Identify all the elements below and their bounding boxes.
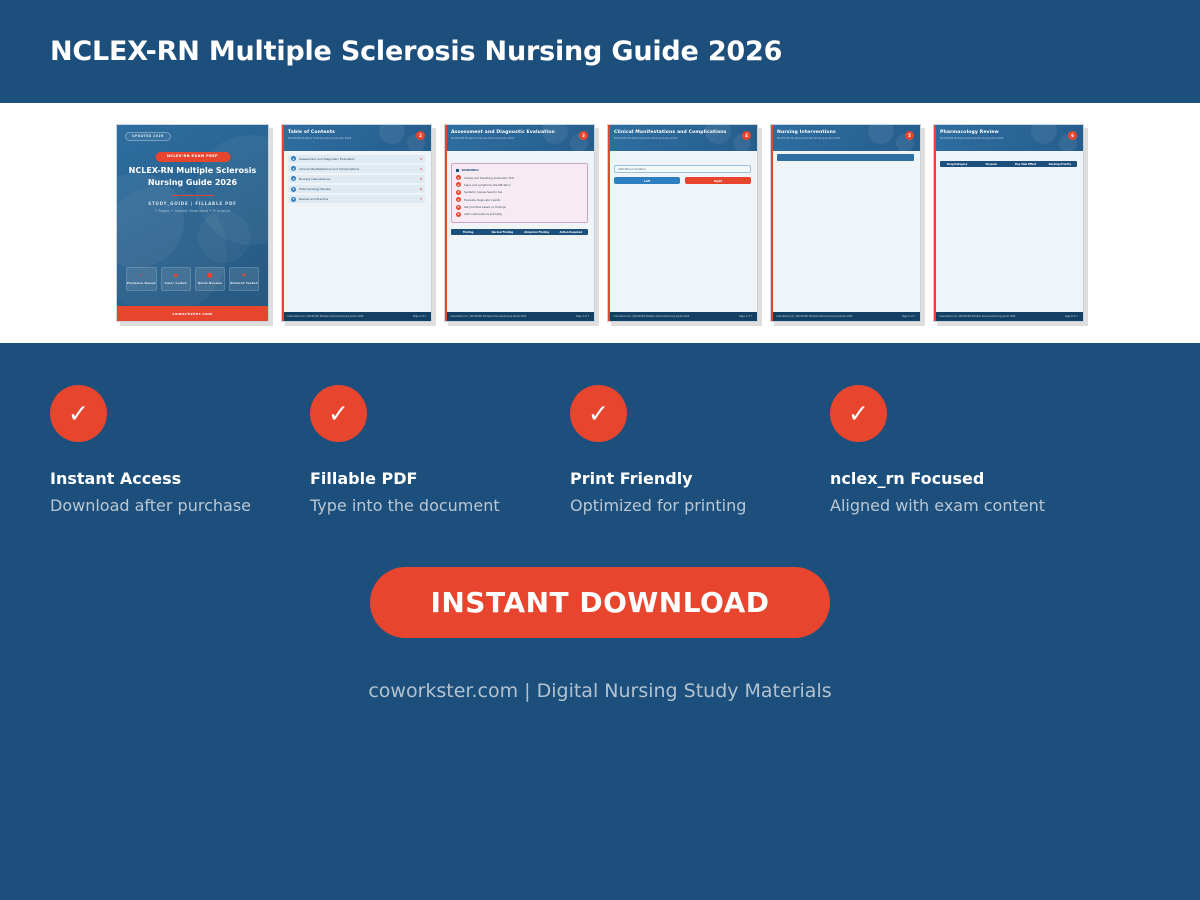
table-header-row: Drug/Category Purpose Key Side Effect Nu…	[940, 161, 1077, 167]
palette-icon: ◆	[173, 273, 178, 279]
thumbnail-page-3[interactable]: Assessment and Diagnostic Evaluation NCL…	[444, 124, 595, 322]
warning-index: 4	[456, 197, 461, 202]
cover-feature-item: ◆ Color Coded	[161, 267, 191, 291]
cover-meta: 7 Pages • Instant Download • Printable	[117, 209, 268, 213]
cover-feature-row: ✓ Evidence Based ◆ Color Coded ■ Quick R…	[126, 267, 259, 291]
cover-feature-label: Color Coded	[165, 281, 187, 285]
cover-feature-label: Quick Review	[198, 281, 222, 285]
check-icon: ✓	[50, 385, 107, 442]
cover-feature-item: ■ Quick Review	[195, 267, 225, 291]
accent-bar	[934, 125, 936, 321]
cover-feature-label: Evidence Based	[127, 281, 156, 285]
warning-item: 6 Alert interventions promptly	[456, 212, 583, 217]
instant-download-button[interactable]: INSTANT DOWNLOAD	[370, 567, 829, 638]
page-subheading: NCLEX-RN Multiple Sclerosis Nursing Guid…	[777, 137, 914, 140]
check-icon: ✓	[310, 385, 367, 442]
table-column-header: Key Side Effect	[1009, 163, 1043, 166]
feature-instant-access: ✓ Instant Access Download after purchase	[50, 385, 310, 515]
page-footer: coworkster.com | NCLEX-RN Multiple Scler…	[445, 312, 594, 321]
toc-index: 3	[291, 176, 296, 181]
page-footer-left: coworkster.com | NCLEX-RN Multiple Scler…	[613, 315, 689, 318]
page-subheading: NCLEX-RN Multiple Sclerosis Nursing Guid…	[288, 137, 425, 140]
page-footer-right: Page 4 of 7	[739, 315, 752, 318]
cover-brand-band: coworkster.com	[117, 306, 268, 321]
page-number-badge: 4	[742, 131, 751, 140]
table-column-header: Abnormal Finding	[520, 231, 554, 234]
button-row: Left Right	[614, 177, 751, 184]
warning-text: Systemic review head to toe	[464, 190, 502, 194]
toc-page-number: 6	[420, 187, 422, 191]
site-footer: coworkster.com | Digital Nursing Study M…	[0, 680, 1200, 702]
page-heading: Clinical Manifestations and Complication…	[614, 130, 751, 135]
warning-text: Evaluate diagnostic results	[464, 198, 500, 202]
page-footer-right: Page 6 of 7	[1065, 315, 1078, 318]
cover-feature-label: Student Tested	[230, 281, 258, 285]
check-icon: ✓	[570, 385, 627, 442]
warning-text: Alert interventions promptly	[464, 212, 502, 216]
warning-item: 5 Set priorities based on findings	[456, 205, 583, 210]
toc-index: 5	[291, 197, 296, 202]
page-subheading: NCLEX-RN Multiple Sclerosis Nursing Guid…	[451, 137, 588, 140]
table-header-row: Finding Normal Finding Abnormal Finding …	[451, 229, 588, 235]
toc-index: 4	[291, 187, 296, 192]
form-field-label: Start/Stop Indicators	[618, 167, 646, 171]
cover-divider	[172, 195, 214, 196]
toc-row[interactable]: 1 Assessment and Diagnostic Evaluation 3	[288, 155, 425, 163]
page-heading: Assessment and Diagnostic Evaluation	[451, 130, 588, 135]
warning-index: 3	[456, 190, 461, 195]
toc-page-number: 5	[420, 177, 422, 181]
check-icon: ✓	[139, 273, 144, 279]
bolt-icon: ■	[207, 273, 213, 279]
warning-title: WARNING:	[462, 168, 480, 172]
page-heading: Table of Contents	[288, 130, 425, 135]
cover-subtitle: STUDY_GUIDE | FILLABLE PDF	[117, 201, 268, 206]
decorative-circle-icon	[198, 211, 250, 263]
warning-text: Signs and symptoms identification	[464, 183, 511, 187]
toc-label: Nursing Interventions	[299, 177, 417, 181]
page-footer-right: Page 5 of 7	[902, 315, 915, 318]
toc-row[interactable]: 4 Pharmacology Review 6	[288, 185, 425, 193]
page-heading: Pharmacology Review	[940, 130, 1077, 135]
thumbnail-page-4[interactable]: Clinical Manifestations and Complication…	[607, 124, 758, 322]
accent-bar	[771, 125, 773, 321]
page-footer-right: Page 3 of 7	[576, 315, 589, 318]
star-icon: ★	[241, 273, 246, 279]
cover-brand-label: coworkster.com	[172, 312, 212, 316]
page-body: Start/Stop Indicators Left Right	[608, 151, 757, 312]
exam-prep-badge: NCLEX-RN EXAM PREP	[155, 152, 230, 162]
page-title: NCLEX-RN Multiple Sclerosis Nursing Guid…	[50, 36, 782, 67]
thumbnail-page-6[interactable]: Pharmacology Review NCLEX-RN Multiple Sc…	[933, 124, 1084, 322]
feature-print-friendly: ✓ Print Friendly Optimized for printing	[570, 385, 830, 515]
feature-title: Print Friendly	[570, 469, 830, 488]
page-footer-left: coworkster.com | NCLEX-RN Multiple Scler…	[450, 315, 526, 318]
toc-label: Assessment and Diagnostic Evaluation	[299, 157, 417, 161]
warning-index: 2	[456, 182, 461, 187]
page-number-badge: 6	[1068, 131, 1077, 140]
page-footer-left: coworkster.com | NCLEX-RN Multiple Scler…	[287, 315, 363, 318]
page-header-band: Nursing Interventions NCLEX-RN Multiple …	[771, 125, 920, 151]
page-footer: coworkster.com | NCLEX-RN Multiple Scler…	[608, 312, 757, 321]
table-column-header: Normal Finding	[485, 231, 519, 234]
toc-row[interactable]: 3 Nursing Interventions 5	[288, 175, 425, 183]
check-icon: ✓	[830, 385, 887, 442]
warning-title-row: WARNING:	[456, 168, 583, 172]
accent-bar	[445, 125, 447, 321]
page-header-band: Assessment and Diagnostic Evaluation NCL…	[445, 125, 594, 151]
feature-list: ✓ Instant Access Download after purchase…	[0, 343, 1200, 515]
page-heading: Nursing Interventions	[777, 130, 914, 135]
toc-row[interactable]: 5 Review and Practice 7	[288, 195, 425, 203]
warning-text: Set priorities based on findings	[464, 205, 506, 209]
feature-title: Fillable PDF	[310, 469, 570, 488]
warning-index: 1	[456, 175, 461, 180]
toc-page-number: 4	[420, 167, 422, 171]
page-header: NCLEX-RN Multiple Sclerosis Nursing Guid…	[0, 0, 1200, 103]
toc-page-number: 3	[420, 157, 422, 161]
page-number-badge: 5	[905, 131, 914, 140]
feature-description: Optimized for printing	[570, 496, 830, 515]
page-footer-left: coworkster.com | NCLEX-RN Multiple Scler…	[776, 315, 852, 318]
page-header-band: Pharmacology Review NCLEX-RN Multiple Sc…	[934, 125, 1083, 151]
warning-item: 3 Systemic review head to toe	[456, 190, 583, 195]
updated-badge: UPDATED 2026	[125, 132, 171, 141]
form-field[interactable]: Start/Stop Indicators	[614, 165, 751, 173]
warning-item: 4 Evaluate diagnostic results	[456, 197, 583, 202]
cover-artwork: UPDATED 2026 NCLEX-RN EXAM PREP NCLEX-RN…	[117, 125, 268, 321]
page-number-badge: 2	[416, 131, 425, 140]
thumbnail-cover-page[interactable]: UPDATED 2026 NCLEX-RN EXAM PREP NCLEX-RN…	[116, 124, 269, 322]
right-button[interactable]: Right	[685, 177, 751, 184]
toc-label: Pharmacology Review	[299, 187, 417, 191]
content-placeholder-bar	[777, 154, 914, 161]
table-column-header: Drug/Category	[940, 163, 974, 166]
page-body: WARNING: 1 Airway and breathing evaluati…	[445, 151, 594, 312]
table-column-header: Nursing Priority	[1043, 163, 1077, 166]
feature-title: Instant Access	[50, 469, 310, 488]
page-header-band: Clinical Manifestations and Complication…	[608, 125, 757, 151]
page-number-badge: 3	[579, 131, 588, 140]
warning-item: 2 Signs and symptoms identification	[456, 182, 583, 187]
feature-description: Download after purchase	[50, 496, 310, 515]
toc-row[interactable]: 2 Clinical Manifestations and Complicati…	[288, 165, 425, 173]
page-footer-left: coworkster.com | NCLEX-RN Multiple Scler…	[939, 315, 1015, 318]
toc-label: Review and Practice	[299, 197, 417, 201]
warning-text: Airway and breathing evaluation first	[464, 176, 514, 180]
toc-index: 1	[291, 156, 296, 161]
accent-bar	[608, 125, 610, 321]
warning-index: 5	[456, 205, 461, 210]
cover-feature-item: ★ Student Tested	[229, 267, 259, 291]
feature-nclex-focused: ✓ nclex_rn Focused Aligned with exam con…	[830, 385, 1090, 515]
feature-description: Type into the document	[310, 496, 570, 515]
page-body	[771, 151, 920, 312]
warning-callout: WARNING: 1 Airway and breathing evaluati…	[451, 163, 588, 223]
page-footer: coworkster.com | NCLEX-RN Multiple Scler…	[771, 312, 920, 321]
feature-fillable-pdf: ✓ Fillable PDF Type into the document	[310, 385, 570, 515]
feature-description: Aligned with exam content	[830, 496, 1090, 515]
accent-bar	[282, 125, 284, 321]
toc-index: 2	[291, 166, 296, 171]
cover-feature-item: ✓ Evidence Based	[126, 267, 157, 291]
warning-item: 1 Airway and breathing evaluation first	[456, 175, 583, 180]
preview-thumbnail-strip: UPDATED 2026 NCLEX-RN EXAM PREP NCLEX-RN…	[0, 103, 1200, 343]
thumbnail-page-2[interactable]: Table of Contents NCLEX-RN Multiple Scle…	[281, 124, 432, 322]
toc-label: Clinical Manifestations and Complication…	[299, 167, 417, 171]
thumbnail-page-5[interactable]: Nursing Interventions NCLEX-RN Multiple …	[770, 124, 921, 322]
page-body: Drug/Category Purpose Key Side Effect Nu…	[934, 151, 1083, 312]
page-body: 1 Assessment and Diagnostic Evaluation 3…	[282, 151, 431, 312]
page-footer: coworkster.com | NCLEX-RN Multiple Scler…	[282, 312, 431, 321]
cta-area: INSTANT DOWNLOAD	[0, 567, 1200, 638]
left-button[interactable]: Left	[614, 177, 680, 184]
page-subheading: NCLEX-RN Multiple Sclerosis Nursing Guid…	[940, 137, 1077, 140]
page-header-band: Table of Contents NCLEX-RN Multiple Scle…	[282, 125, 431, 151]
table-column-header: Purpose	[974, 163, 1008, 166]
toc-page-number: 7	[420, 197, 422, 201]
page-footer: coworkster.com | NCLEX-RN Multiple Scler…	[934, 312, 1083, 321]
warning-index: 6	[456, 212, 461, 217]
table-column-header: Action Required	[554, 231, 588, 234]
page-footer-right: Page 2 of 7	[413, 315, 426, 318]
feature-title: nclex_rn Focused	[830, 469, 1090, 488]
table-column-header: Finding	[451, 231, 485, 234]
warning-icon	[456, 169, 459, 172]
cover-title: NCLEX-RN Multiple Sclerosis Nursing Guid…	[127, 165, 258, 188]
page-subheading: NCLEX-RN Multiple Sclerosis Nursing Guid…	[614, 137, 751, 140]
